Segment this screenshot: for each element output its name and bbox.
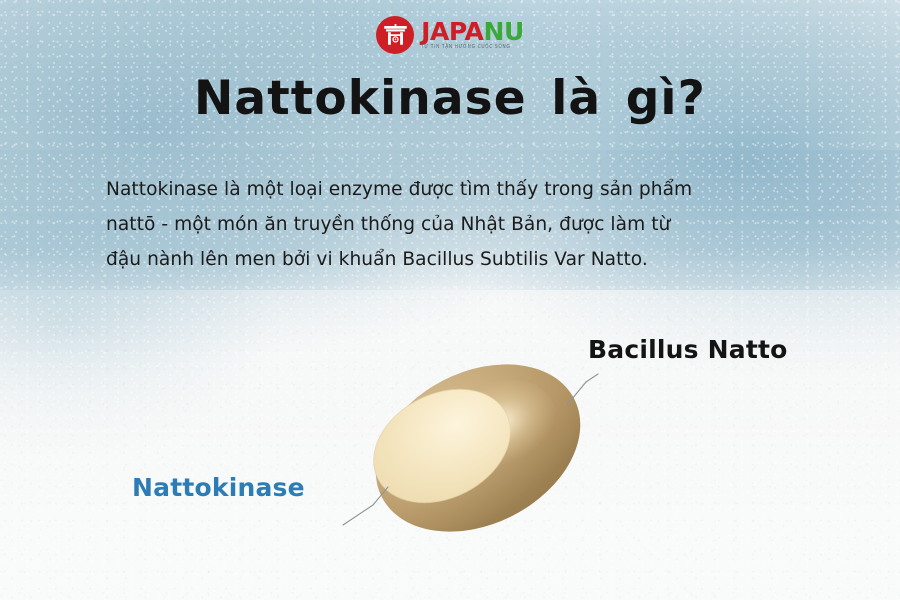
page-title: Nattokinase là gì? xyxy=(0,74,900,123)
intro-paragraph: Nattokinase là một loại enzyme được tìm … xyxy=(106,172,798,277)
soybean-natto-diagram xyxy=(330,350,620,550)
brand-name-part1: JAPA xyxy=(421,17,483,46)
torii-gate-icon xyxy=(376,16,414,54)
brand-tagline: TỰ TIN TẬN HƯỞNG CUỘC SỐNG xyxy=(421,46,510,51)
leader-line-nattokinase xyxy=(343,505,373,525)
brand-name: JAPANU xyxy=(421,19,524,44)
brand-logo: JAPANU TỰ TIN TẬN HƯỞNG CUỘC SỐNG xyxy=(0,16,900,54)
infographic-canvas: JAPANU TỰ TIN TẬN HƯỞNG CUỘC SỐNG Nattok… xyxy=(0,0,900,600)
callout-label-nattokinase: Nattokinase xyxy=(132,473,305,502)
paragraph-line: đậu nành lên men bởi vi khuẩn Bacillus S… xyxy=(106,242,798,277)
brand-wordmark: JAPANU TỰ TIN TẬN HƯỞNG CUỘC SỐNG xyxy=(421,19,524,50)
callout-label-bacillus-natto: Bacillus Natto xyxy=(588,335,788,364)
leader-line-bacillus-tip xyxy=(586,374,598,382)
paragraph-line: nattō - một món ăn truyền thống của Nhật… xyxy=(106,207,798,242)
paragraph-line: Nattokinase là một loại enzyme được tìm … xyxy=(106,172,798,207)
brand-name-part2: NU xyxy=(484,17,524,46)
